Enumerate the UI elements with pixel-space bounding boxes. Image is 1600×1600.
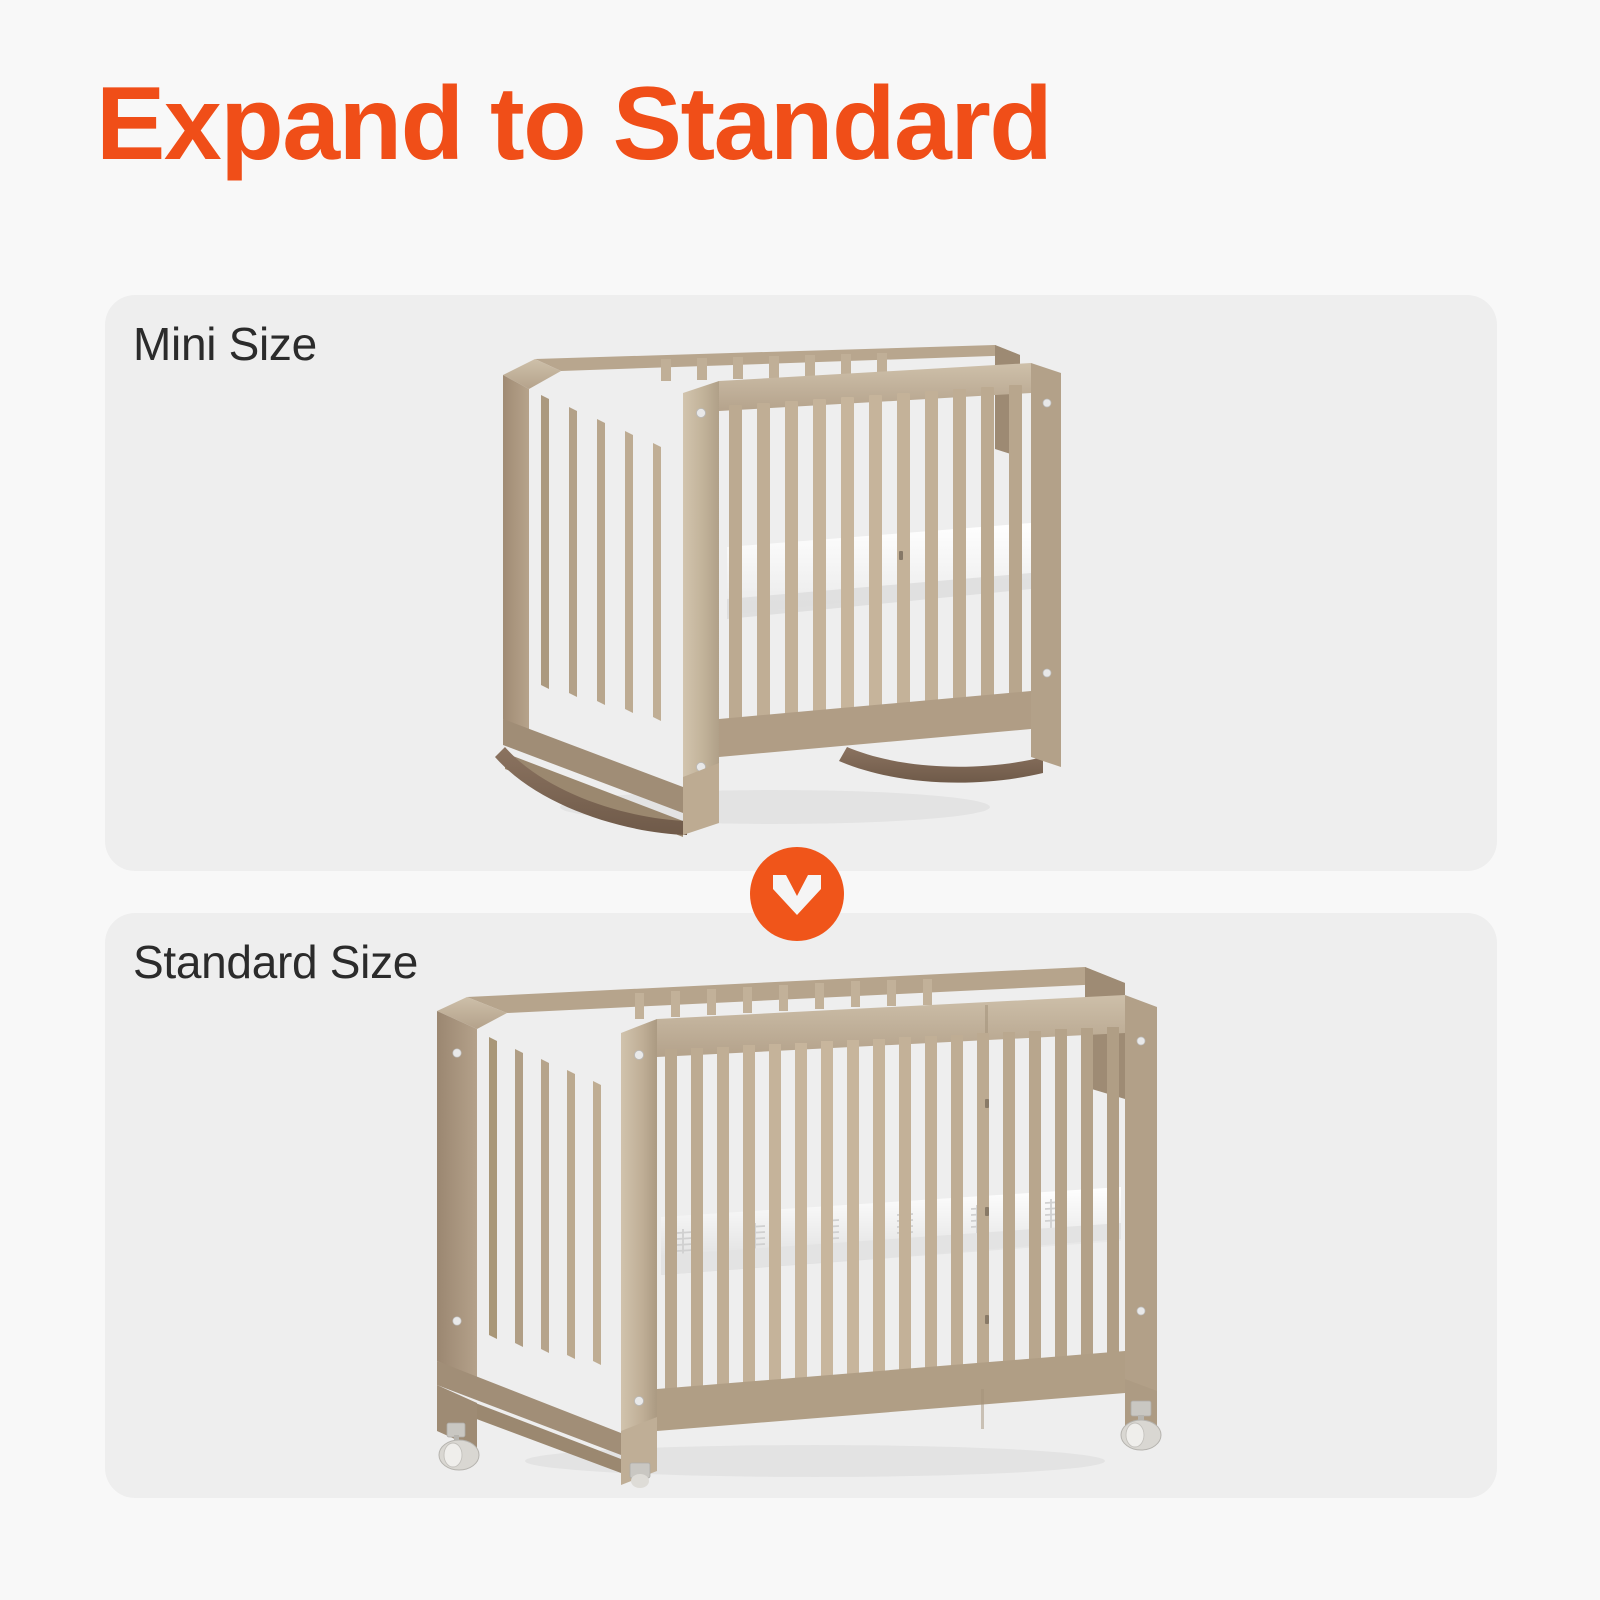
card-standard-size: Standard Size — [105, 913, 1497, 1498]
card-standard-label: Standard Size — [133, 935, 418, 989]
infographic-page: Expand to Standard Mini Size — [0, 0, 1600, 1600]
standard-crib-image — [425, 949, 1185, 1489]
card-mini-size: Mini Size — [105, 295, 1497, 871]
mini-crib-image — [475, 337, 1075, 837]
card-mini-label: Mini Size — [133, 317, 317, 371]
page-title: Expand to Standard — [96, 72, 1051, 176]
caster-front — [630, 1463, 650, 1488]
expand-arrow-badge — [750, 847, 844, 941]
chevron-down-icon — [769, 869, 825, 919]
